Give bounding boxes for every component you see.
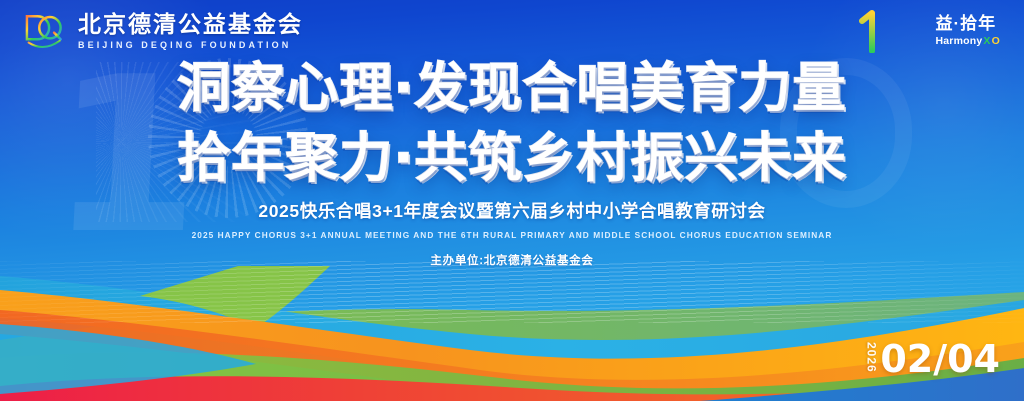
- event-year: 2026: [865, 342, 877, 373]
- ten-anniversary-sunburst-icon: [850, 9, 928, 53]
- headline: 洞察心理·发现合唱美育力量 拾年聚力·共筑乡村振兴未来: [0, 56, 1024, 192]
- headline-line-1: 洞察心理·发现合唱美育力量: [0, 56, 1024, 122]
- anniversary-title-cn: 益·拾年: [935, 15, 996, 34]
- foundation-name-en: BEIJING DEQING FOUNDATION: [78, 40, 303, 50]
- subtitle-en: 2025 HAPPY CHORUS 3+1 ANNUAL MEETING AND…: [0, 229, 1024, 241]
- conference-banner: 1 北京德清公益基金会: [0, 0, 1024, 401]
- foundation-name-cn: 北京德清公益基金会: [78, 12, 303, 36]
- anniversary-harmony-label: Harmony: [935, 35, 982, 47]
- foundation-logo: 北京德清公益基金会 BEIJING DEQING FOUNDATION: [22, 11, 303, 51]
- anniversary-x-glyph: X: [983, 35, 990, 47]
- anniversary-text: 益·拾年 HarmonyXO: [935, 15, 1000, 48]
- event-month-day: 02/04: [880, 341, 1000, 377]
- event-date: 2026 02/04: [865, 341, 1000, 377]
- subtitle-block: 2025快乐合唱3+1年度会议暨第六届乡村中小学合唱教育研讨会 2025 HAP…: [0, 200, 1024, 268]
- subtitle-cn: 2025快乐合唱3+1年度会议暨第六届乡村中小学合唱教育研讨会: [0, 200, 1024, 222]
- dq-monogram-icon: [22, 11, 68, 51]
- headline-line-2: 拾年聚力·共筑乡村振兴未来: [0, 126, 1024, 192]
- anniversary-title-en: HarmonyXO: [935, 35, 1000, 47]
- anniversary-o-glyph: O: [992, 35, 1000, 47]
- foundation-logo-text: 北京德清公益基金会 BEIJING DEQING FOUNDATION: [78, 12, 303, 49]
- color-waves-icon: [0, 266, 1024, 401]
- anniversary-logo: 益·拾年 HarmonyXO: [850, 9, 1000, 53]
